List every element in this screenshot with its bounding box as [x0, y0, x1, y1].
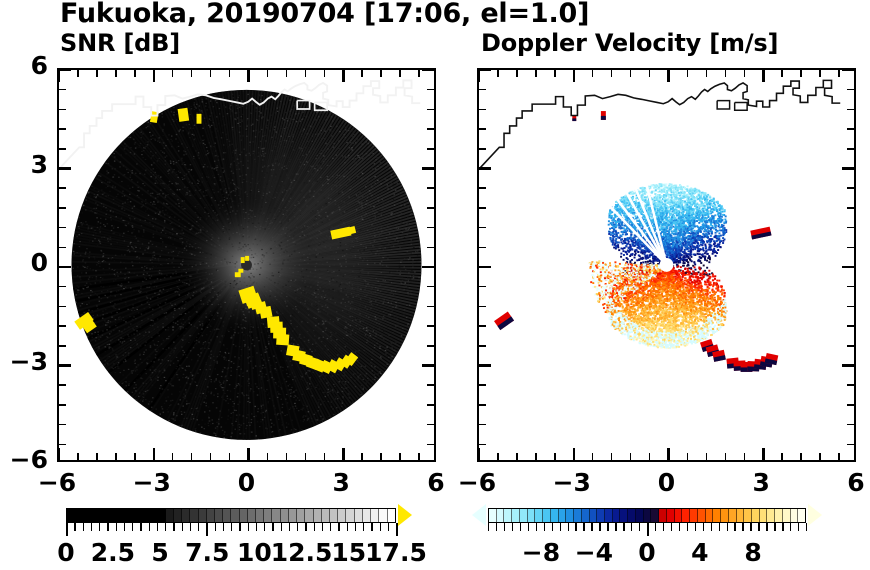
figure-title: Fukuoka, 20190704 [17:06, el=1.0] [60, 0, 589, 29]
snr-colorbar-segment [108, 509, 116, 522]
snr-colorbar-segment [223, 509, 231, 522]
doppler-colorbar-segment [582, 509, 590, 522]
snr-colorbar-segment [157, 509, 165, 522]
doppler-colorbar-segment [535, 509, 543, 522]
snr-colorbar-segment [100, 509, 108, 522]
snr-colorbar-segment [330, 509, 338, 522]
snr-colorbar-segment [190, 509, 198, 522]
doppler-colorbar-ticks [488, 523, 806, 537]
doppler-colorbar-segment [613, 509, 621, 522]
snr-colorbar-segment [379, 509, 387, 522]
doppler-colorbar-segment [721, 509, 729, 522]
snr-colorbar-segment [297, 509, 305, 522]
snr-colorbar-segment [371, 509, 379, 522]
snr-colorbar-segment [92, 509, 100, 522]
doppler-colorbar-segment [752, 509, 760, 522]
doppler-colorbar-segment [798, 509, 805, 522]
doppler-colorbar-segment [760, 509, 768, 522]
snr-colorbar-segment [355, 509, 363, 522]
doppler-colorbar-segment [644, 509, 652, 522]
snr-ytick-label: −3 [2, 347, 48, 376]
doppler-colorbar-segment [574, 509, 582, 522]
snr-colorbar-segment [207, 509, 215, 522]
doppler-xtick-label: 3 [731, 468, 791, 497]
snr-colorbar-segment [322, 509, 330, 522]
snr-colorbar-segment [182, 509, 190, 522]
doppler-xtick-label: 0 [637, 468, 697, 497]
doppler-colorbar-segment [489, 509, 497, 522]
snr-colorbar-segment [133, 509, 141, 522]
doppler-colorbar-segment [775, 509, 783, 522]
snr-colorbar-segment [166, 509, 174, 522]
doppler-colorbar-segment [791, 509, 799, 522]
snr-colorbar-segment [149, 509, 157, 522]
snr-colorbar-segment [240, 509, 248, 522]
snr-colorbar-segment [141, 509, 149, 522]
doppler-colorbar-segment [636, 509, 644, 522]
doppler-colorbar-segment [543, 509, 551, 522]
doppler-xtick-label: −3 [542, 468, 602, 497]
doppler-colorbar-segment [520, 509, 528, 522]
snr-colorbar-segment [388, 509, 395, 522]
snr-ppi-plot[interactable] [57, 68, 436, 462]
doppler-colorbar-segment [597, 509, 605, 522]
snr-colorbar-segment [346, 509, 354, 522]
snr-colorbar-segment [338, 509, 346, 522]
doppler-colorbar-segment [566, 509, 574, 522]
doppler-colorbar-segment [783, 509, 791, 522]
snr-colorbar-segment [116, 509, 124, 522]
doppler-colorbar-segment [713, 509, 721, 522]
doppler-colorbar-segment [675, 509, 683, 522]
snr-colorbar-segment [83, 509, 91, 522]
doppler-ppi-plot[interactable] [477, 68, 856, 462]
doppler-colorbar-segment [737, 509, 745, 522]
doppler-colorbar-segment [651, 509, 659, 522]
snr-colorbar-gradient[interactable] [66, 508, 396, 523]
snr-xtick-label: −3 [122, 468, 182, 497]
snr-colorbar-segment [363, 509, 371, 522]
snr-ytick-label: 3 [2, 150, 48, 179]
doppler-colorbar-under-arrow [472, 504, 486, 526]
doppler-colorbar-segment [698, 509, 706, 522]
snr-colorbar-segment [256, 509, 264, 522]
snr-colorbar-ticks [66, 523, 396, 537]
snr-colorbar-segment [248, 509, 256, 522]
doppler-colorbar-segment [504, 509, 512, 522]
doppler-colorbar-segment [559, 509, 567, 522]
doppler-colorbar-segment [528, 509, 536, 522]
doppler-colorbar-segment [682, 509, 690, 522]
snr-colorbar-segment [215, 509, 223, 522]
doppler-colorbar-segment [590, 509, 598, 522]
doppler-xtick-label: 6 [826, 468, 870, 497]
snr-ytick-label: 6 [2, 51, 48, 80]
snr-colorbar-segment [199, 509, 207, 522]
doppler-colorbar-segment [690, 509, 698, 522]
figure-root: Fukuoka, 20190704 [17:06, el=1.0] SNR [d… [0, 0, 870, 570]
doppler-colorbar-gradient[interactable] [488, 508, 806, 523]
doppler-colorbar-segment [628, 509, 636, 522]
doppler-colorbar-segment [605, 509, 613, 522]
doppler-colorbar-segment [620, 509, 628, 522]
snr-colorbar-segment [314, 509, 322, 522]
snr-colorbar-segment [75, 509, 83, 522]
snr-ytick-label: −6 [2, 445, 48, 474]
left-panel-subtitle: SNR [dB] [60, 29, 180, 57]
snr-xtick-label: 3 [311, 468, 371, 497]
doppler-radar-image [479, 70, 854, 460]
doppler-colorbar-segment [744, 509, 752, 522]
right-panel-subtitle: Doppler Velocity [m/s] [481, 29, 778, 57]
doppler-colorbar-segment [767, 509, 775, 522]
snr-colorbar-segment [281, 509, 289, 522]
doppler-colorbar-segment [659, 509, 667, 522]
snr-colorbar-segment [289, 509, 297, 522]
doppler-colorbar-segment [497, 509, 505, 522]
snr-xtick-label: 0 [217, 468, 277, 497]
doppler-xtick-label: −6 [447, 468, 507, 497]
snr-ytick-label: 0 [2, 248, 48, 277]
doppler-colorbar-segment [729, 509, 737, 522]
snr-colorbar-segment [174, 509, 182, 522]
snr-colorbar-segment [231, 509, 239, 522]
doppler-colorbar-over-arrow [808, 504, 822, 526]
snr-colorbar-segment [264, 509, 272, 522]
snr-colorbar-over-arrow [398, 504, 412, 526]
doppler-colorbar-tick-label: 8 [718, 538, 788, 567]
snr-colorbar-tick-label: 17.5 [361, 538, 431, 567]
doppler-colorbar-segment [706, 509, 714, 522]
snr-radar-image [59, 70, 434, 460]
snr-colorbar-segment [272, 509, 280, 522]
snr-colorbar-segment [125, 509, 133, 522]
snr-colorbar-segment [67, 509, 75, 522]
snr-colorbar-segment [305, 509, 313, 522]
doppler-colorbar-segment [667, 509, 675, 522]
doppler-colorbar-segment [551, 509, 559, 522]
doppler-colorbar-segment [512, 509, 520, 522]
